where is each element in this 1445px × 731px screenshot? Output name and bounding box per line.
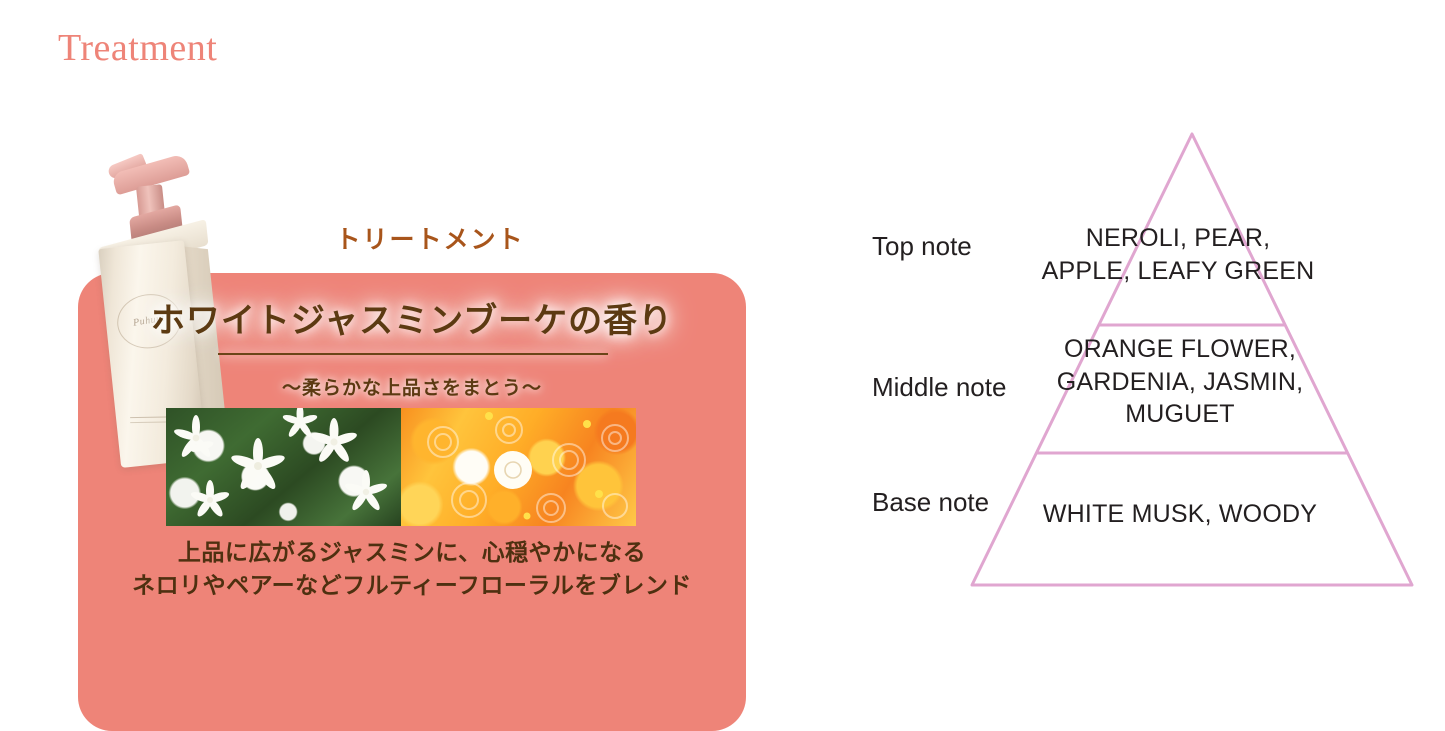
orange-roses-photo xyxy=(401,408,636,526)
rose-swirls-icon xyxy=(401,408,636,526)
note-label-base: Base note xyxy=(872,487,989,518)
flower-photo-strip xyxy=(166,408,636,526)
note-text-middle-line-3: MUGUET xyxy=(1010,398,1350,431)
note-label-top: Top note xyxy=(872,231,972,262)
note-text-base-line-1: WHITE MUSK, WOODY xyxy=(1010,498,1350,531)
page-title: Treatment xyxy=(58,28,217,70)
title-divider xyxy=(218,353,608,355)
pyramid-outline-icon xyxy=(840,0,1445,660)
note-text-middle-line-2: GARDENIA, JASMIN, xyxy=(1010,366,1350,399)
note-text-top-line-1: NEROLI, PEAR, xyxy=(1018,222,1338,255)
note-label-middle: Middle note xyxy=(872,372,1006,403)
product-kind-label: トリートメント xyxy=(300,220,560,256)
fragrance-description: 上品に広がるジャスミンに、心穏やかになる ネロリやペアーなどフルティーフローラル… xyxy=(78,536,746,603)
note-text-middle-line-1: ORANGE FLOWER, xyxy=(1010,333,1350,366)
description-line-1: 上品に広がるジャスミンに、心穏やかになる xyxy=(78,536,746,569)
product-panel: トリートメント Puhuut ホワイトジャスミンブーケの香り 〜柔らかな上品さを… xyxy=(0,110,790,650)
note-text-middle: ORANGE FLOWER, GARDENIA, JASMIN, MUGUET xyxy=(1010,333,1350,431)
fragrance-pyramid: Top note NEROLI, PEAR, APPLE, LEAFY GREE… xyxy=(840,0,1445,660)
white-jasmine-photo xyxy=(166,408,401,526)
jasmine-petals-icon xyxy=(166,408,401,526)
fragrance-title: ホワイトジャスミンブーケの香り xyxy=(78,293,746,342)
fragrance-subtitle: 〜柔らかな上品さをまとう〜 xyxy=(78,373,746,400)
note-text-top-line-2: APPLE, LEAFY GREEN xyxy=(1018,255,1338,288)
note-text-base: WHITE MUSK, WOODY xyxy=(1010,498,1350,531)
note-text-top: NEROLI, PEAR, APPLE, LEAFY GREEN xyxy=(1018,222,1338,287)
description-line-2: ネロリやペアーなどフルティーフローラルをブレンド xyxy=(78,569,746,602)
